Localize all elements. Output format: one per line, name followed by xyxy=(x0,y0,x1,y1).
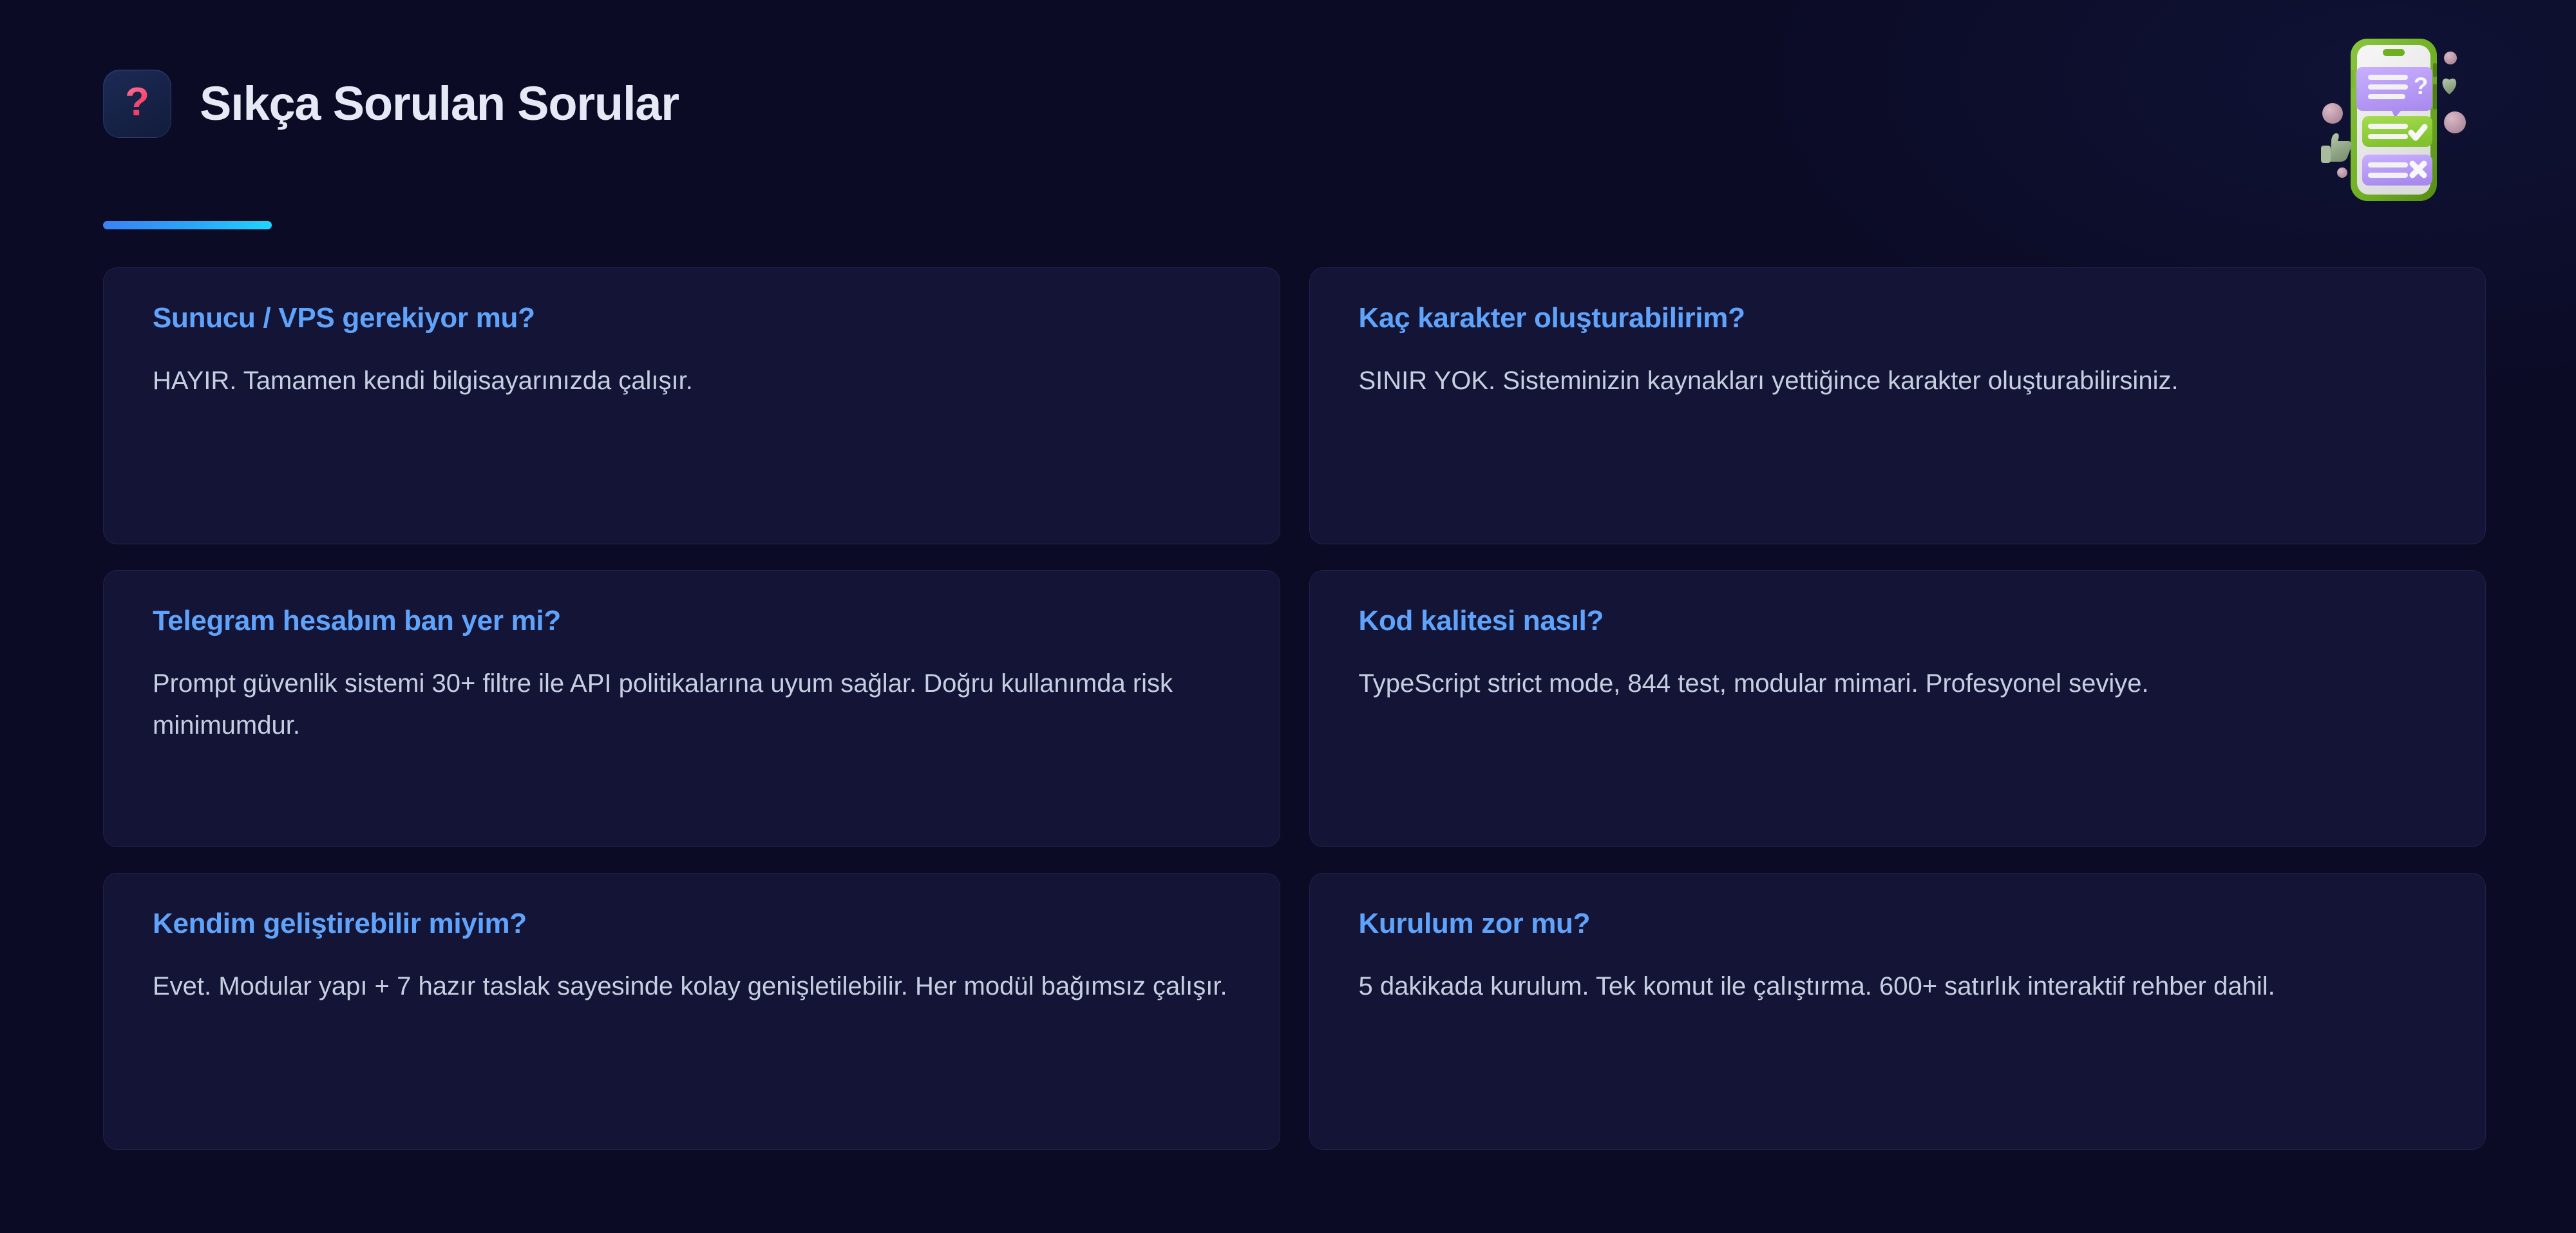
faq-question: Kaç karakter oluşturabilirim? xyxy=(1359,301,2437,336)
faq-question: Kurulum zor mu? xyxy=(1359,907,2437,941)
faq-card[interactable]: Telegram hesabım ban yer mi? Prompt güve… xyxy=(103,570,1280,847)
decor-sphere xyxy=(2322,103,2343,124)
svg-text:?: ? xyxy=(2414,73,2429,99)
chat-bubble-cross xyxy=(2362,155,2432,186)
faq-answer: HAYIR. Tamamen kendi bilgisayarınızda ça… xyxy=(153,360,1231,402)
faq-card[interactable]: Kurulum zor mu? 5 dakikada kurulum. Tek … xyxy=(1309,873,2486,1150)
faq-card[interactable]: Kod kalitesi nasıl? TypeScript strict mo… xyxy=(1309,570,2486,847)
faq-question: Telegram hesabım ban yer mi? xyxy=(153,604,1231,638)
faq-answer: Prompt güvenlik sistemi 30+ filtre ile A… xyxy=(153,663,1231,747)
section-header: ? Sıkça Sorulan Sorular xyxy=(103,70,679,138)
faq-question: Kendim geliştirebilir miyim? xyxy=(153,907,1231,941)
faq-phone-illustration: ? xyxy=(2268,12,2468,205)
decor-sphere xyxy=(2444,111,2466,133)
chat-bubble-question: ? xyxy=(2356,67,2432,118)
phone-notch xyxy=(2383,49,2405,56)
faq-answer: Evet. Modular yapı + 7 hazır taslak saye… xyxy=(153,966,1231,1008)
heart-icon xyxy=(2443,79,2457,95)
faq-answer: 5 dakikada kurulum. Tek komut ile çalışt… xyxy=(1359,966,2437,1008)
thumbs-up-icon xyxy=(2321,133,2352,163)
accent-underline xyxy=(103,221,272,229)
faq-question: Sunucu / VPS gerekiyor mu? xyxy=(153,301,1231,336)
question-mark-glyph: ? xyxy=(125,82,149,122)
faq-card[interactable]: Kendim geliştirebilir miyim? Evet. Modul… xyxy=(103,873,1280,1150)
faq-answer: SINIR YOK. Sisteminizin kaynakları yetti… xyxy=(1359,360,2437,402)
decor-sphere xyxy=(2337,167,2347,178)
faq-question: Kod kalitesi nasıl? xyxy=(1359,604,2437,638)
faq-grid: Sunucu / VPS gerekiyor mu? HAYIR. Tamame… xyxy=(103,267,2486,1150)
decor-sphere xyxy=(2444,52,2457,64)
faq-answer: TypeScript strict mode, 844 test, modula… xyxy=(1359,663,2437,705)
faq-card[interactable]: Sunucu / VPS gerekiyor mu? HAYIR. Tamame… xyxy=(103,267,1280,544)
faq-card[interactable]: Kaç karakter oluşturabilirim? SINIR YOK.… xyxy=(1309,267,2486,544)
page-title: Sıkça Sorulan Sorular xyxy=(200,80,679,128)
question-mark-icon: ? xyxy=(103,70,171,138)
chat-bubble-check xyxy=(2362,116,2432,147)
faq-section: ? Sıkça Sorulan Sorular xyxy=(0,0,2576,1233)
